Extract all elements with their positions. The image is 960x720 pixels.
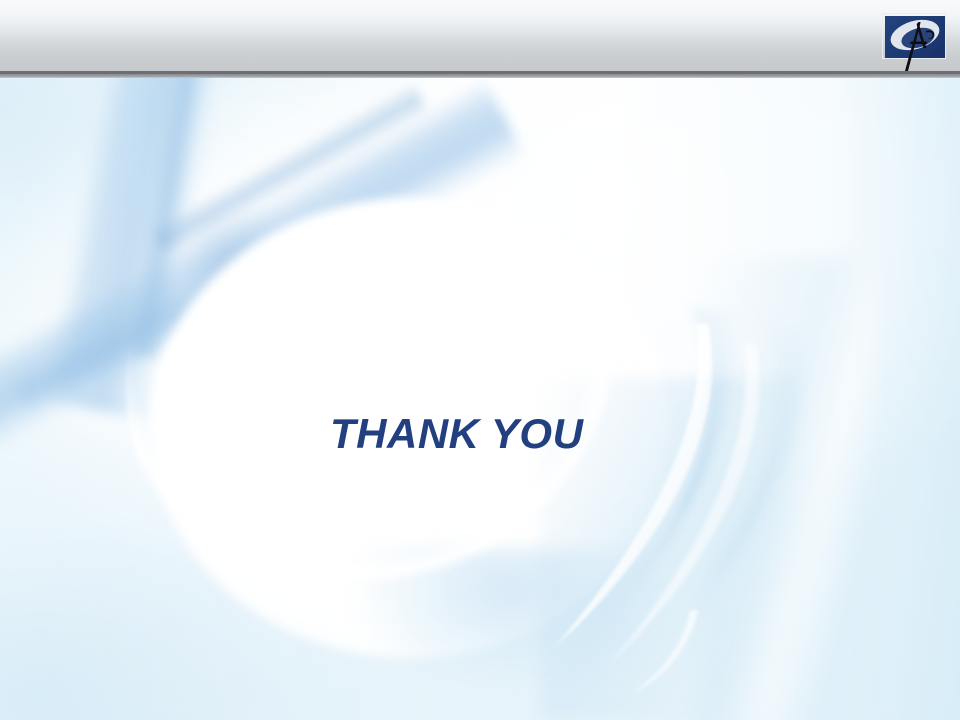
- slide-body: THANK YOU AOS Confidential 31: [0, 78, 960, 720]
- logo-a-icon: [882, 13, 948, 75]
- slide-header-bar: [0, 0, 960, 71]
- slide-title: THANK YOU: [330, 410, 750, 458]
- aos-logo: [882, 13, 948, 75]
- slide-canvas: THANK YOU AOS Confidential 31: [0, 0, 960, 720]
